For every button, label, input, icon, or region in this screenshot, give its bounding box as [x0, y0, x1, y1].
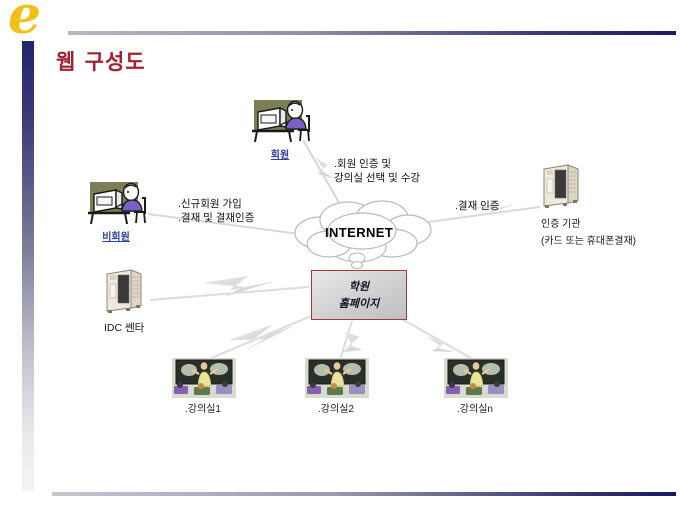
edge-label-payment-flow-line1: .결재 인증 [455, 199, 499, 213]
node-classroom-2-label: .강의실2 [305, 400, 367, 415]
node-idc-center[interactable]: IDC 쎈타 [104, 268, 144, 335]
node-classroom-2[interactable]: .강의실2 [305, 358, 367, 415]
diagram-area: INTERNET 학원 홈페이지 [0, 0, 680, 510]
edge-label-member-flow-line2: 강의실 선택 및 수강 [334, 171, 420, 185]
edge-label-nonmember-flow: .신규회원 가입 .결재 및 결재인증 [178, 197, 254, 225]
internet-cloud-label: INTERNET [325, 225, 393, 240]
connector-layer [0, 0, 680, 510]
homepage-box-line2: 홈페이지 [339, 295, 379, 312]
classroom-icon [172, 358, 234, 396]
classroom-icon [305, 358, 367, 396]
edge-label-nonmember-flow-line2: .결재 및 결재인증 [178, 211, 254, 225]
node-classroom-1[interactable]: .강의실1 [172, 358, 234, 415]
node-member[interactable]: 회원 [248, 100, 312, 161]
edge-label-payment-flow: .결재 인증 [455, 199, 499, 213]
node-certificate-authority[interactable]: 인증 기관 (카드 또는 휴대폰결재) [541, 163, 636, 247]
node-member-label: 회원 [248, 146, 312, 161]
cloud-tail-icon [349, 253, 365, 269]
node-classroom-n-label: .강의실n [444, 400, 506, 415]
node-ca-sublabel: (카드 또는 휴대폰결재) [541, 232, 636, 247]
pc-user-icon [248, 100, 312, 144]
connector-homepage-to-class1 [202, 316, 311, 362]
slide-canvas: e 웹 구성도 [0, 0, 680, 510]
node-nonmember[interactable]: 비회원 [84, 182, 148, 243]
homepage-box[interactable]: 학원 홈페이지 [311, 270, 407, 320]
pc-user-icon [84, 182, 148, 226]
node-classroom-n[interactable]: .강의실n [444, 358, 506, 415]
connector-idc-to-homepage [150, 276, 309, 300]
server-icon [541, 163, 579, 209]
connector-homepage-to-classn [400, 318, 478, 362]
server-icon [104, 268, 142, 314]
edge-label-member-flow-line1: .회원 인증 및 [334, 157, 420, 171]
classroom-icon [444, 358, 506, 396]
node-ca-label: 인증 기관 [541, 215, 636, 230]
homepage-box-line1: 학원 [349, 278, 369, 295]
node-classroom-1-label: .강의실1 [172, 400, 234, 415]
node-idc-label: IDC 쎈타 [104, 320, 144, 335]
edge-label-member-flow: .회원 인증 및 강의실 선택 및 수강 [334, 157, 420, 185]
edge-label-nonmember-flow-line1: .신규회원 가입 [178, 197, 254, 211]
node-nonmember-label: 비회원 [84, 228, 148, 243]
